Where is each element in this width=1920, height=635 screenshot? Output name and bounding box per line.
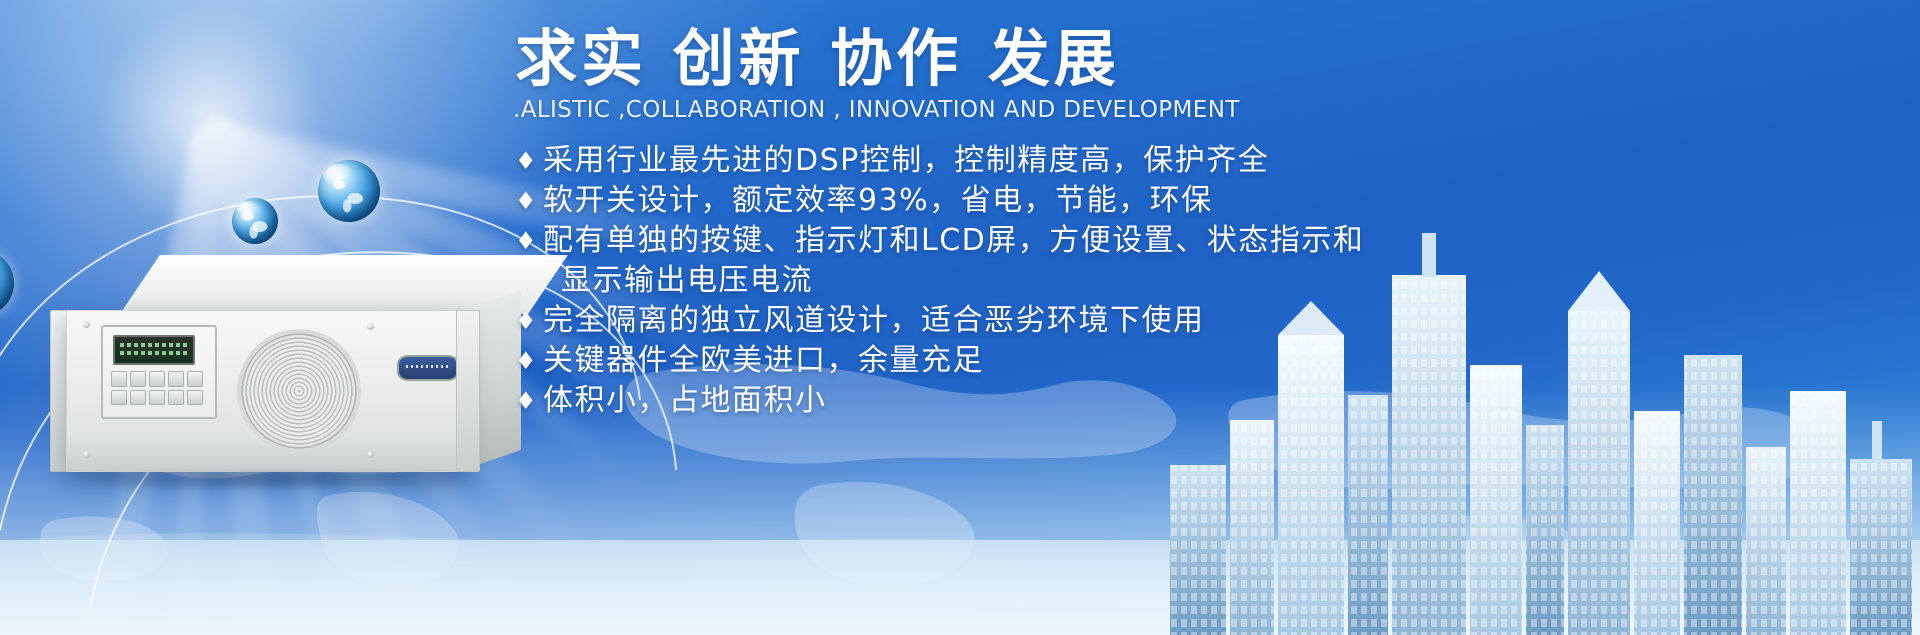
promo-banner: 求实 创新 协作 发展 .ALISTIC ,COLLABORATION , IN… <box>0 0 1920 635</box>
list-item-label: 完全隔离的独立风道设计，适合恶劣环境下使用 <box>543 303 1205 338</box>
list-item-continuation: 显示输出电压电流 <box>513 261 1505 301</box>
banner-copy: 求实 创新 协作 发展 .ALISTIC ,COLLABORATION , IN… <box>505 16 1505 421</box>
list-item-label: 配有单独的按键、指示灯和LCD屏，方便设置、状态指示和 <box>543 223 1364 258</box>
subheadline: .ALISTIC ,COLLABORATION , INNOVATION AND… <box>513 97 1505 123</box>
diamond-bullet-icon: ♦ <box>515 221 538 261</box>
list-item: ♦ 体积小，占地面积小 <box>513 381 1505 421</box>
globe-icon <box>318 160 380 222</box>
floor-gradient <box>0 540 1920 635</box>
product-front-panel <box>66 310 468 472</box>
diamond-bullet-icon: ♦ <box>515 381 538 421</box>
headline: 求实 创新 协作 发展 <box>515 26 1505 93</box>
rack-ear-right <box>456 310 480 472</box>
list-item-label: 体积小，占地面积小 <box>543 383 827 418</box>
list-item-label: 软开关设计，额定效率93%，省电，节能，环保 <box>543 183 1213 218</box>
lcd-screen <box>113 335 195 365</box>
list-item: ♦ 完全隔离的独立风道设计，适合恶劣环境下使用 <box>513 301 1505 341</box>
globe-icon <box>0 250 14 316</box>
diamond-bullet-icon: ♦ <box>515 341 538 381</box>
product-shadow <box>54 469 484 491</box>
diamond-bullet-icon: ♦ <box>515 301 538 341</box>
diamond-bullet-icon: ♦ <box>515 181 538 221</box>
list-item-label: 关键器件全欧美进口，余量充足 <box>543 343 984 378</box>
feature-list: ♦ 采用行业最先进的DSP控制，控制精度高，保护齐全 ♦ 软开关设计，额定效率9… <box>513 141 1505 421</box>
list-item: ♦ 采用行业最先进的DSP控制，控制精度高，保护齐全 <box>513 141 1505 181</box>
db9-connector <box>397 355 459 381</box>
fan-grille <box>237 329 361 453</box>
list-item-label: 显示输出电压电流 <box>561 263 813 298</box>
diamond-bullet-icon: ♦ <box>515 141 538 181</box>
keypad <box>111 371 203 405</box>
globe-icon <box>232 198 278 244</box>
list-item: ♦ 配有单独的按键、指示灯和LCD屏，方便设置、状态指示和 <box>513 221 1505 261</box>
list-item-label: 采用行业最先进的DSP控制，控制精度高，保护齐全 <box>543 143 1269 178</box>
list-item: ♦ 软开关设计，额定效率93%，省电，节能，环保 <box>513 181 1505 221</box>
rack-mount-power-supply <box>58 255 528 525</box>
list-item: ♦ 关键器件全欧美进口，余量充足 <box>513 341 1505 381</box>
